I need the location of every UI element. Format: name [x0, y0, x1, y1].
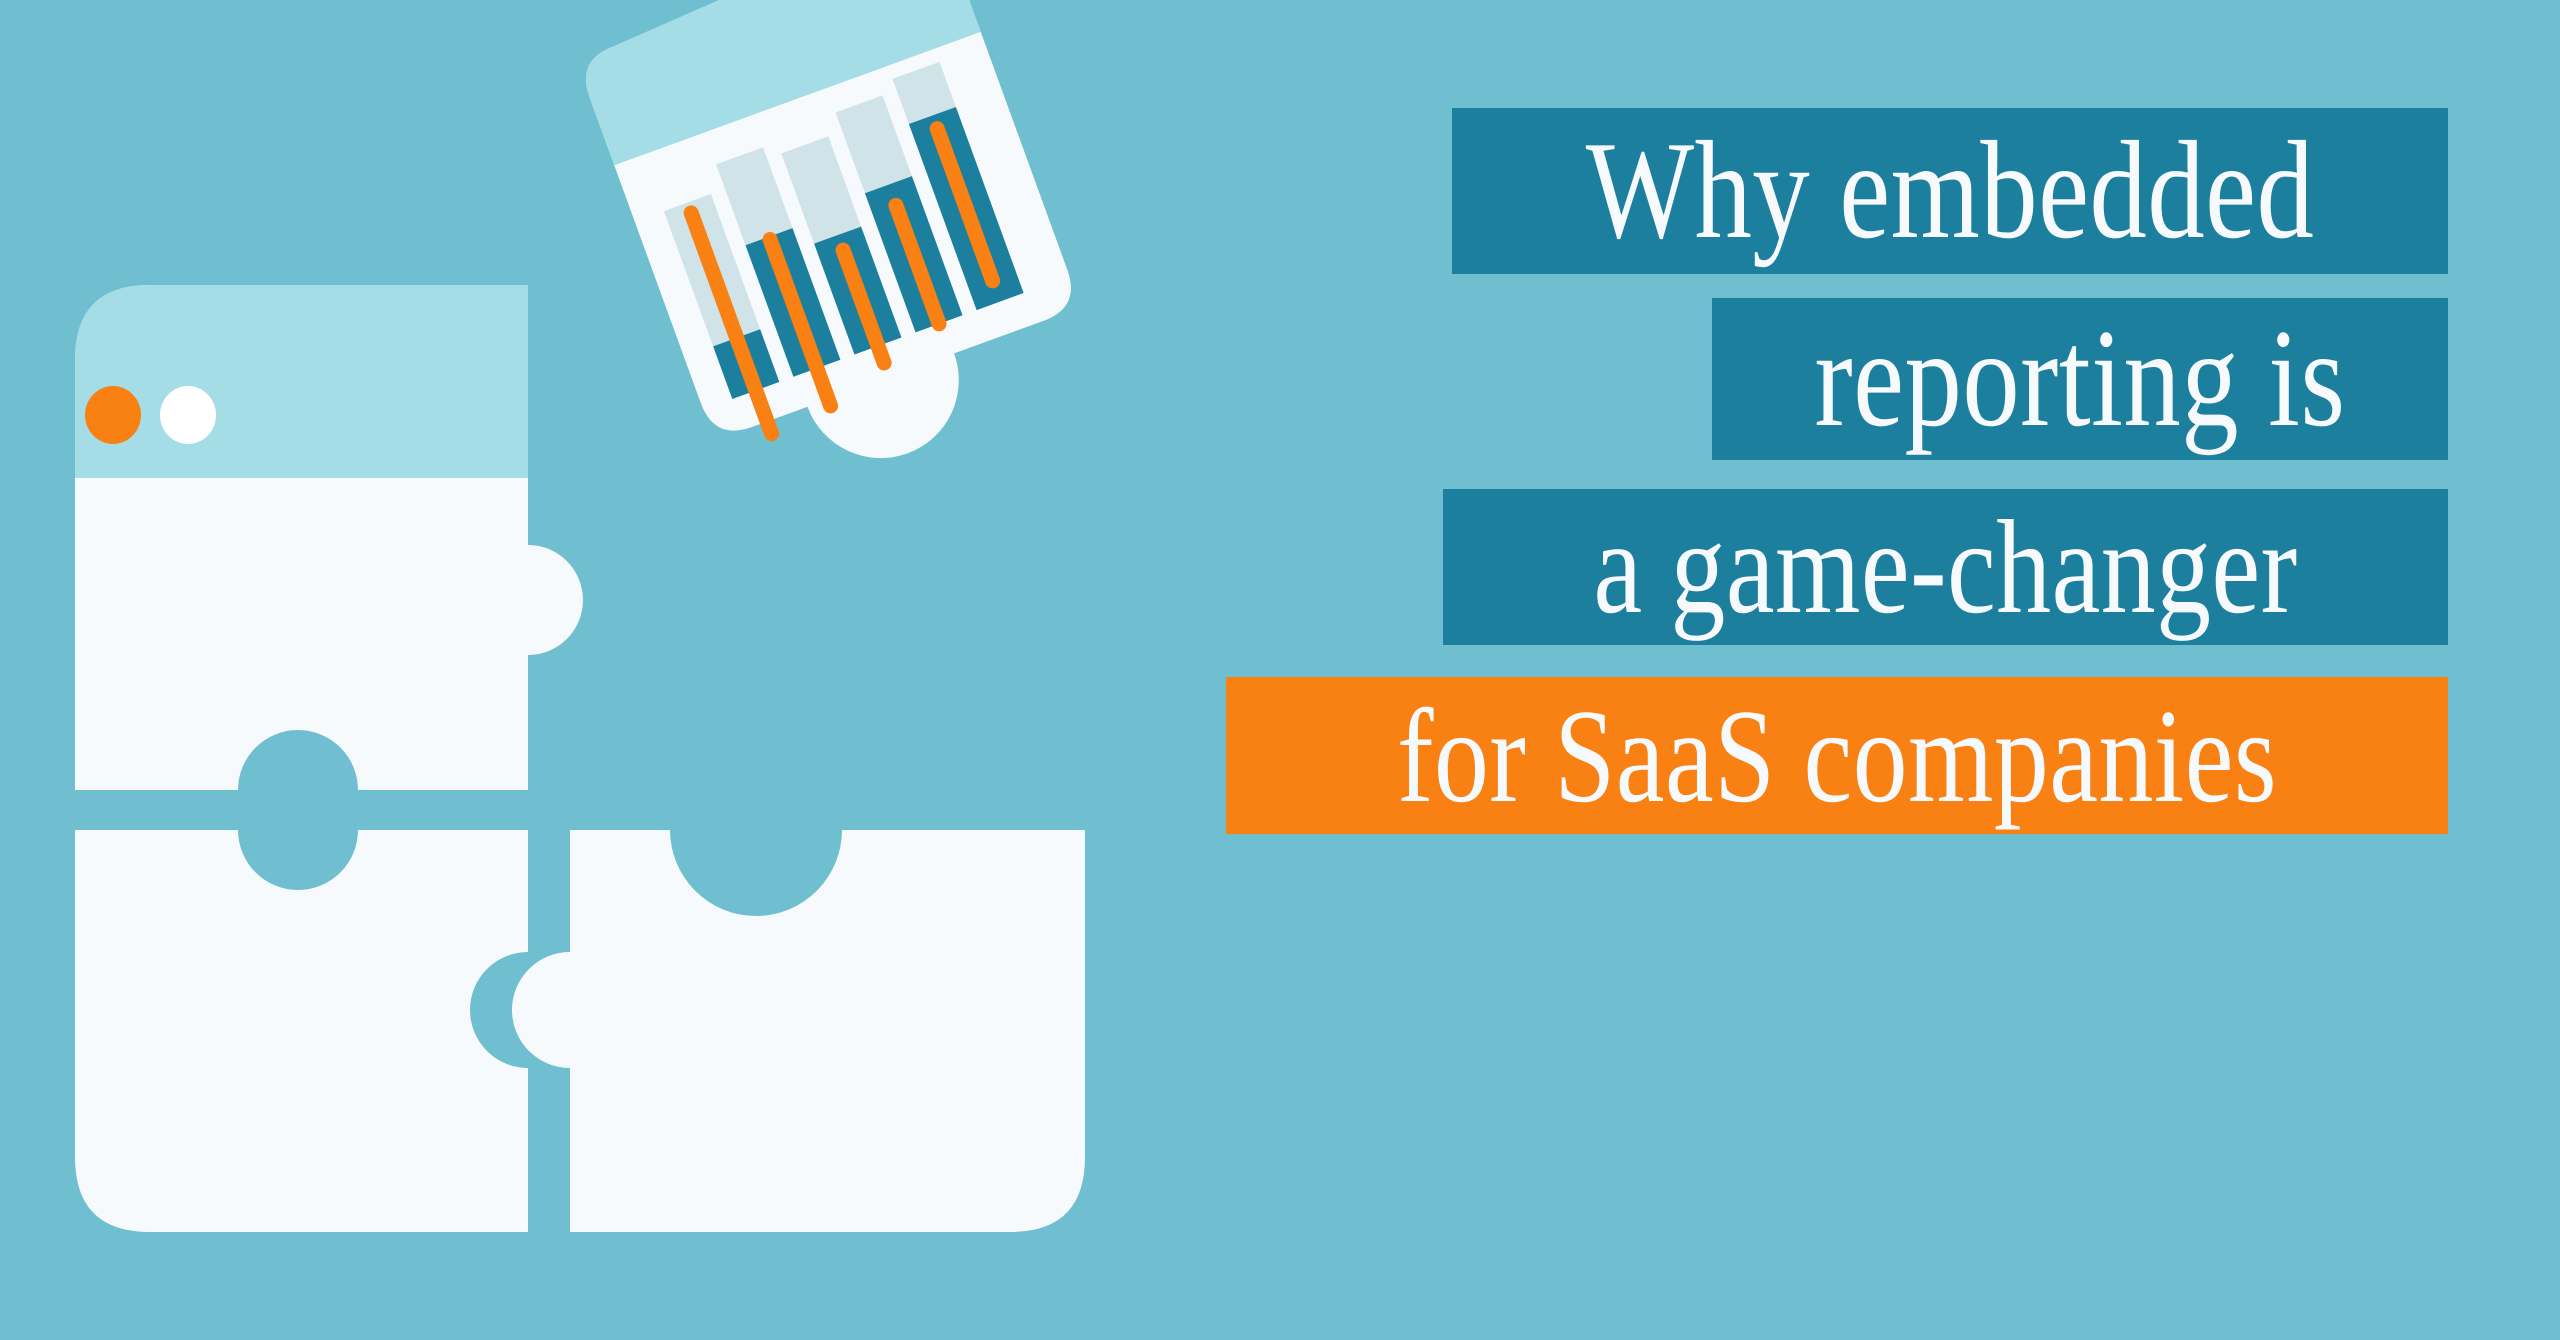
headline-line-1: Why embedded [1452, 108, 2448, 274]
browser-window-puzzle-piece [75, 285, 583, 790]
browser-window-titlebar [75, 285, 528, 478]
poster-canvas: Why embedded reporting is a game-changer… [0, 0, 2560, 1340]
headline-line-4-text: for SaaS companies [1336, 689, 2338, 823]
headline-line-4-highlight: for SaaS companies [1226, 677, 2448, 834]
headline-line-1-text: Why embedded [1542, 121, 2359, 261]
headline-line-3-text: a game-changer [1533, 500, 2357, 634]
headline-line-3: a game-changer [1443, 489, 2448, 645]
window-dot-orange-icon [85, 386, 141, 444]
artwork-illustration [0, 0, 1180, 1340]
window-dot-white-icon [160, 386, 216, 444]
headline-line-2: reporting is [1712, 298, 2448, 460]
bottom-left-puzzle-piece [75, 830, 528, 1232]
headline-line-2-text: reporting is [1778, 309, 2382, 449]
